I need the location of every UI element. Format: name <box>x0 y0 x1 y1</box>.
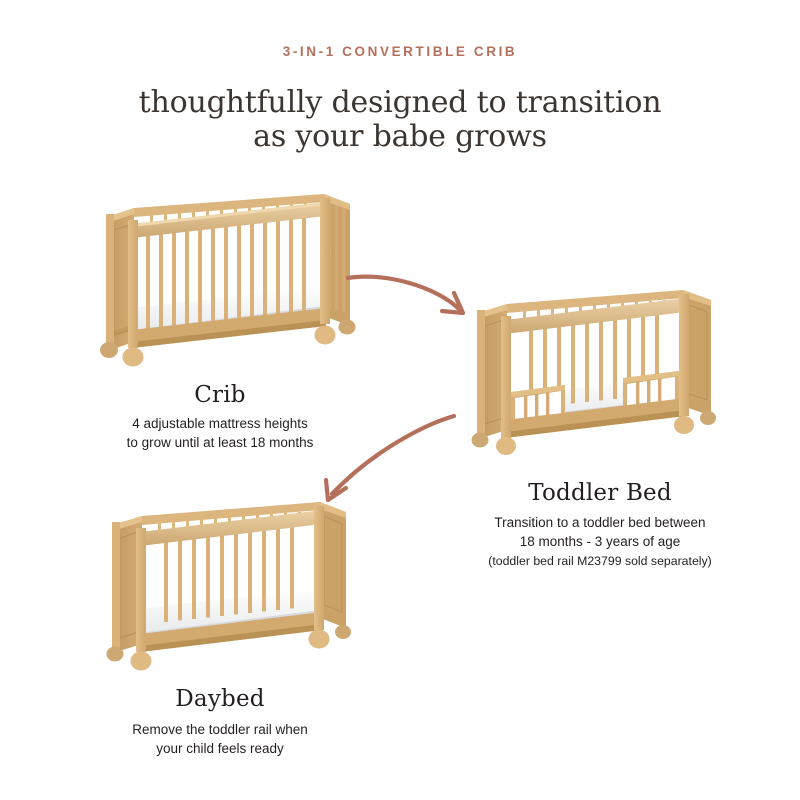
crib-illustration <box>88 190 368 375</box>
daybed-illustration <box>88 498 360 674</box>
daybed-caption-body: Remove the toddler rail when your child … <box>70 720 370 758</box>
daybed-svg <box>88 498 360 674</box>
daybed-foot-front-left <box>131 652 152 671</box>
toddler-foot-back-left <box>472 433 489 448</box>
toddler-foot-front-right <box>674 416 694 434</box>
daybed-post-front-right <box>314 506 324 630</box>
toddler-caption-line-2: 18 months - 3 years of age <box>435 532 765 551</box>
daybed-caption-line-1: Remove the toddler rail when <box>70 720 370 739</box>
toddler-post-front-left <box>501 316 511 438</box>
crib-foot-back-left <box>100 342 118 358</box>
infographic-canvas: 3-IN-1 CONVERTIBLE CRIB thoughtfully des… <box>0 0 800 800</box>
toddler-bed-illustration <box>455 288 725 460</box>
daybed-caption-line-2: your child feels ready <box>70 739 370 758</box>
arrow-toddler-to-daybed <box>300 412 460 508</box>
crib-foot-front-left <box>123 348 144 367</box>
toddler-post-front-right <box>679 294 689 416</box>
toddler-caption-note: (toddler bed rail M23799 sold separately… <box>435 552 765 571</box>
toddler-post-back-left <box>477 310 485 440</box>
toddler-bed-caption-title: Toddler Bed <box>450 480 750 506</box>
headline-line-1: thoughtfully designed to transition <box>0 86 800 120</box>
daybed-foot-front-right <box>309 630 330 649</box>
crib-post-front-left <box>128 220 138 348</box>
eyebrow-label: 3-IN-1 CONVERTIBLE CRIB <box>0 44 800 59</box>
toddler-foot-back-right <box>700 411 716 425</box>
daybed-foot-back-right <box>335 625 351 639</box>
crib-svg <box>88 190 368 375</box>
crib-foot-front-right <box>315 326 336 345</box>
toddler-foot-front-left <box>496 437 516 455</box>
page-title: thoughtfully designed to transition as y… <box>0 86 800 154</box>
headline-line-2: as your babe grows <box>0 120 800 154</box>
toddler-caption-line-1: Transition to a toddler bed between <box>435 513 765 532</box>
daybed-caption-title: Daybed <box>80 686 360 712</box>
crib-caption-title: Crib <box>80 382 360 408</box>
toddler-bed-caption-body: Transition to a toddler bed between 18 m… <box>435 513 765 571</box>
crib-post-back-left <box>106 214 114 352</box>
toddler-bed-svg <box>455 288 725 460</box>
crib-post-front-right <box>320 198 330 324</box>
crib-right-end-slats <box>328 204 345 312</box>
daybed-post-front-left <box>136 528 146 652</box>
daybed-post-back-left <box>112 522 120 654</box>
daybed-foot-back-left <box>107 647 124 662</box>
